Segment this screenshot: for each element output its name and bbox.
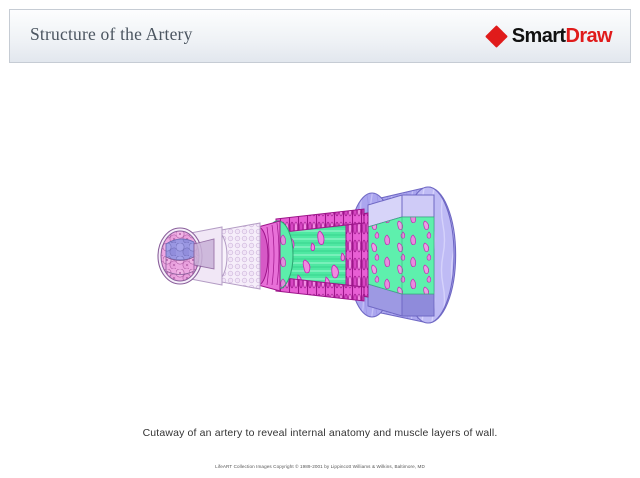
copyright-notice: LifeART Collection Images Copyright © 19… xyxy=(0,464,640,469)
logo-word-smart: Smart xyxy=(512,25,566,47)
figure-caption: Cutaway of an artery to reveal internal … xyxy=(0,427,640,439)
artery-illustration xyxy=(0,150,640,360)
logo-wordmark: SmartDraw xyxy=(512,26,612,46)
slide-header-band: Structure of the Artery SmartDraw xyxy=(9,9,631,63)
smartdraw-logo[interactable]: SmartDraw xyxy=(487,26,616,46)
page-title: Structure of the Artery xyxy=(30,26,193,46)
layer-tunica-intima xyxy=(158,227,222,285)
logo-word-draw: Draw xyxy=(565,25,612,47)
artery-cutaway-diagram xyxy=(150,165,490,345)
smartdraw-diamonds-icon xyxy=(487,27,506,46)
